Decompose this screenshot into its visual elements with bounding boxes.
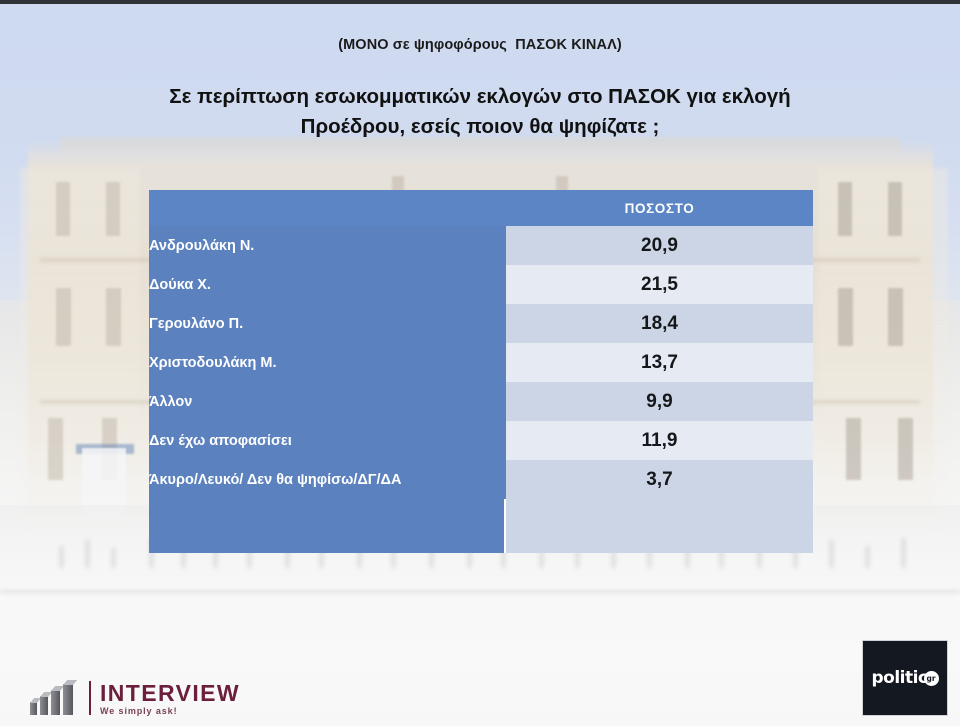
interview-wordmark: INTERVIEW We simply ask! bbox=[100, 681, 240, 716]
row-value: 13,7 bbox=[506, 343, 813, 382]
table-row: Χριστοδουλάκη Μ. 13,7 bbox=[149, 343, 813, 382]
politico-gr-badge: gr bbox=[924, 671, 939, 686]
interview-logo: INTERVIEW We simply ask! bbox=[30, 676, 240, 720]
building-window bbox=[838, 182, 852, 236]
interview-tagline: We simply ask! bbox=[100, 706, 240, 716]
page-title-line-1: Σε περίπτωση εσωκομματικών εκλογών στο Π… bbox=[169, 85, 790, 108]
building-window bbox=[898, 418, 913, 480]
row-label: Δούκα Χ. bbox=[149, 265, 506, 304]
audience-note: (ΜΟΝΟ σε ψηφοφόρους ΠΑΣΟΚ ΚΙΝΑΛ) bbox=[0, 37, 960, 53]
row-value: 20,9 bbox=[506, 226, 813, 265]
building-window bbox=[888, 288, 903, 346]
interview-logo-divider bbox=[89, 681, 91, 715]
building-window bbox=[56, 182, 70, 236]
row-value: 11,9 bbox=[506, 421, 813, 460]
building-window bbox=[56, 288, 71, 346]
row-label: Δεν έχω αποφασίσει bbox=[149, 421, 506, 460]
row-value: 18,4 bbox=[506, 304, 813, 343]
building-window bbox=[838, 288, 853, 346]
tail-label-cell bbox=[149, 499, 506, 553]
row-label: Άλλον bbox=[149, 382, 506, 421]
table-row: Γερουλάνο Π. 18,4 bbox=[149, 304, 813, 343]
page-title-line-2: Προέδρου, εσείς ποιον θα ψηφίζατε ; bbox=[100, 112, 860, 142]
table-tail-row bbox=[149, 499, 813, 553]
table-row: Ανδρουλάκη Ν. 20,9 bbox=[149, 226, 813, 265]
percentage-column-header: ΠΟΣΟΣΤΟ bbox=[506, 190, 813, 226]
building-window bbox=[106, 288, 121, 346]
building-window bbox=[888, 182, 902, 236]
row-value: 3,7 bbox=[506, 460, 813, 499]
building-window bbox=[48, 418, 63, 480]
tail-value-cell bbox=[506, 499, 813, 553]
plaza-railing bbox=[0, 590, 960, 595]
row-value: 21,5 bbox=[506, 265, 813, 304]
interview-bars-icon bbox=[30, 681, 82, 715]
interview-name: INTERVIEW bbox=[100, 681, 240, 705]
row-label: Άκυρο/Λευκό/ Δεν θα ψηφίσω/ΔΓ/ΔΑ bbox=[149, 460, 506, 499]
label-column-header bbox=[149, 190, 506, 226]
top-edge-bar bbox=[0, 0, 960, 4]
row-label: Χριστοδουλάκη Μ. bbox=[149, 343, 506, 382]
table-row: Δεν έχω αποφασίσει 11,9 bbox=[149, 421, 813, 460]
poll-results-table: ΠΟΣΟΣΤΟ Ανδρουλάκη Ν. 20,9 Δούκα Χ. 21,5… bbox=[149, 190, 813, 553]
row-label: Ανδρουλάκη Ν. bbox=[149, 226, 506, 265]
politico-wordmark: politic gr bbox=[871, 668, 938, 688]
table-row: Άκυρο/Λευκό/ Δεν θα ψηφίσω/ΔΓ/ΔΑ 3,7 bbox=[149, 460, 813, 499]
building-window bbox=[106, 182, 120, 236]
politico-name: politic bbox=[871, 668, 927, 688]
table-body: Ανδρουλάκη Ν. 20,9 Δούκα Χ. 21,5 Γερουλά… bbox=[149, 226, 813, 553]
table-row: Δούκα Χ. 21,5 bbox=[149, 265, 813, 304]
page-title: Σε περίπτωση εσωκομματικών εκλογών στο Π… bbox=[100, 82, 860, 142]
politico-logo: politic gr bbox=[862, 640, 948, 716]
table-header-row: ΠΟΣΟΣΤΟ bbox=[149, 190, 813, 226]
row-value: 9,9 bbox=[506, 382, 813, 421]
table-row: Άλλον 9,9 bbox=[149, 382, 813, 421]
building-window bbox=[846, 418, 861, 480]
row-label: Γερουλάνο Π. bbox=[149, 304, 506, 343]
slide-canvas: (ΜΟΝΟ σε ψηφοφόρους ΠΑΣΟΚ ΚΙΝΑΛ) Σε περί… bbox=[0, 0, 960, 726]
